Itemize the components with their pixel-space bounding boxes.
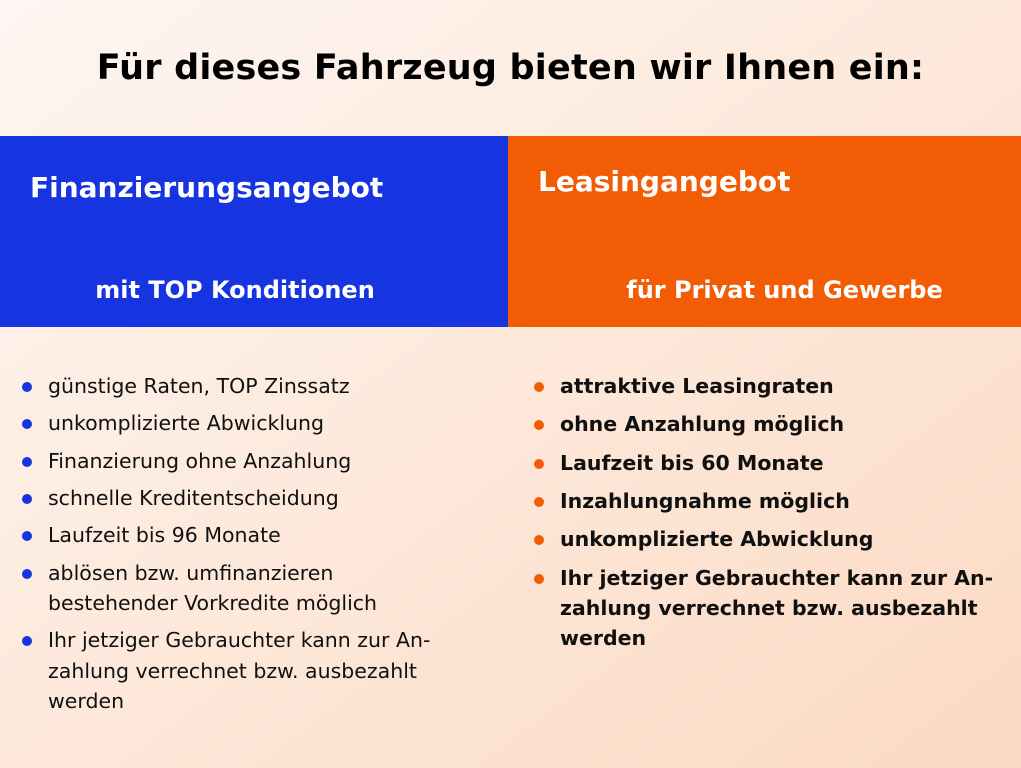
bullet-dot-icon (22, 382, 32, 392)
list-item: Laufzeit bis 60 Monate (528, 448, 1009, 478)
list-item: unkomplizierte Abwicklung (528, 524, 1009, 554)
bullet-dot-icon (22, 494, 32, 504)
leasing-bullet-list: attraktive Leasingraten ohne Anzahlung m… (528, 371, 1009, 654)
finance-column: günstige Raten, TOP Zinssatz unkomplizie… (0, 327, 508, 768)
list-item: Finanzierung ohne Anzahlung (18, 446, 492, 476)
bullet-dot-icon (534, 535, 544, 545)
finance-heading: Finanzierungsangebot (30, 171, 383, 204)
list-item-label: ablösen bzw. umfinanzieren bestehender V… (48, 558, 492, 619)
list-item: ohne Anzahlung möglich (528, 409, 1009, 439)
bullet-dot-icon (22, 419, 32, 429)
leasing-banner: Leasingangebot für Privat und Gewerbe (508, 136, 1021, 327)
bullet-dot-icon (534, 382, 544, 392)
banner-row: Finanzierungsangebot mit TOP Konditionen… (0, 136, 1021, 327)
bullet-dot-icon (534, 420, 544, 430)
leasing-column: attraktive Leasingraten ohne Anzahlung m… (508, 327, 1021, 768)
list-item: schnelle Kreditentscheidung (18, 483, 492, 513)
list-item: Ihr jetziger Gebrauchter kann zur An- za… (528, 563, 1009, 654)
bullet-dot-icon (22, 569, 32, 579)
leasing-subheading: für Privat und Gewerbe (508, 276, 1021, 304)
bullet-dot-icon (22, 636, 32, 646)
list-item-label: Ihr jetziger Gebrauchter kann zur An- za… (48, 625, 492, 716)
list-item-label: ohne Anzahlung möglich (560, 409, 1009, 439)
list-item: Inzahlungnahme möglich (528, 486, 1009, 516)
bullet-dot-icon (22, 457, 32, 467)
list-item-label: Laufzeit bis 60 Monate (560, 448, 1009, 478)
finance-bullet-list: günstige Raten, TOP Zinssatz unkomplizie… (18, 371, 492, 716)
page-title: Für dieses Fahrzeug bieten wir Ihnen ein… (97, 48, 925, 88)
content-columns: günstige Raten, TOP Zinssatz unkomplizie… (0, 327, 1021, 768)
list-item: attraktive Leasingraten (528, 371, 1009, 401)
leasing-heading: Leasingangebot (538, 165, 791, 198)
list-item: Laufzeit bis 96 Monate (18, 520, 492, 550)
bullet-dot-icon (534, 574, 544, 584)
list-item-label: unkomplizierte Abwicklung (48, 408, 492, 438)
list-item-label: Finanzierung ohne Anzahlung (48, 446, 492, 476)
list-item-label: Inzahlungnahme möglich (560, 486, 1009, 516)
list-item: unkomplizierte Abwicklung (18, 408, 492, 438)
list-item: ablösen bzw. umfinanzieren bestehender V… (18, 558, 492, 619)
list-item-label: attraktive Leasingraten (560, 371, 1009, 401)
bullet-dot-icon (534, 459, 544, 469)
slide-canvas: Für dieses Fahrzeug bieten wir Ihnen ein… (0, 0, 1021, 768)
title-area: Für dieses Fahrzeug bieten wir Ihnen ein… (0, 0, 1021, 136)
list-item-label: schnelle Kreditentscheidung (48, 483, 492, 513)
list-item-label: unkomplizierte Abwicklung (560, 524, 1009, 554)
bullet-dot-icon (22, 531, 32, 541)
list-item-label: günstige Raten, TOP Zinssatz (48, 371, 492, 401)
bullet-dot-icon (534, 497, 544, 507)
list-item-label: Ihr jetziger Gebrauchter kann zur An- za… (560, 563, 1009, 654)
list-item: günstige Raten, TOP Zinssatz (18, 371, 492, 401)
finance-subheading: mit TOP Konditionen (0, 276, 508, 304)
list-item: Ihr jetziger Gebrauchter kann zur An- za… (18, 625, 492, 716)
list-item-label: Laufzeit bis 96 Monate (48, 520, 492, 550)
finance-banner: Finanzierungsangebot mit TOP Konditionen (0, 136, 508, 327)
